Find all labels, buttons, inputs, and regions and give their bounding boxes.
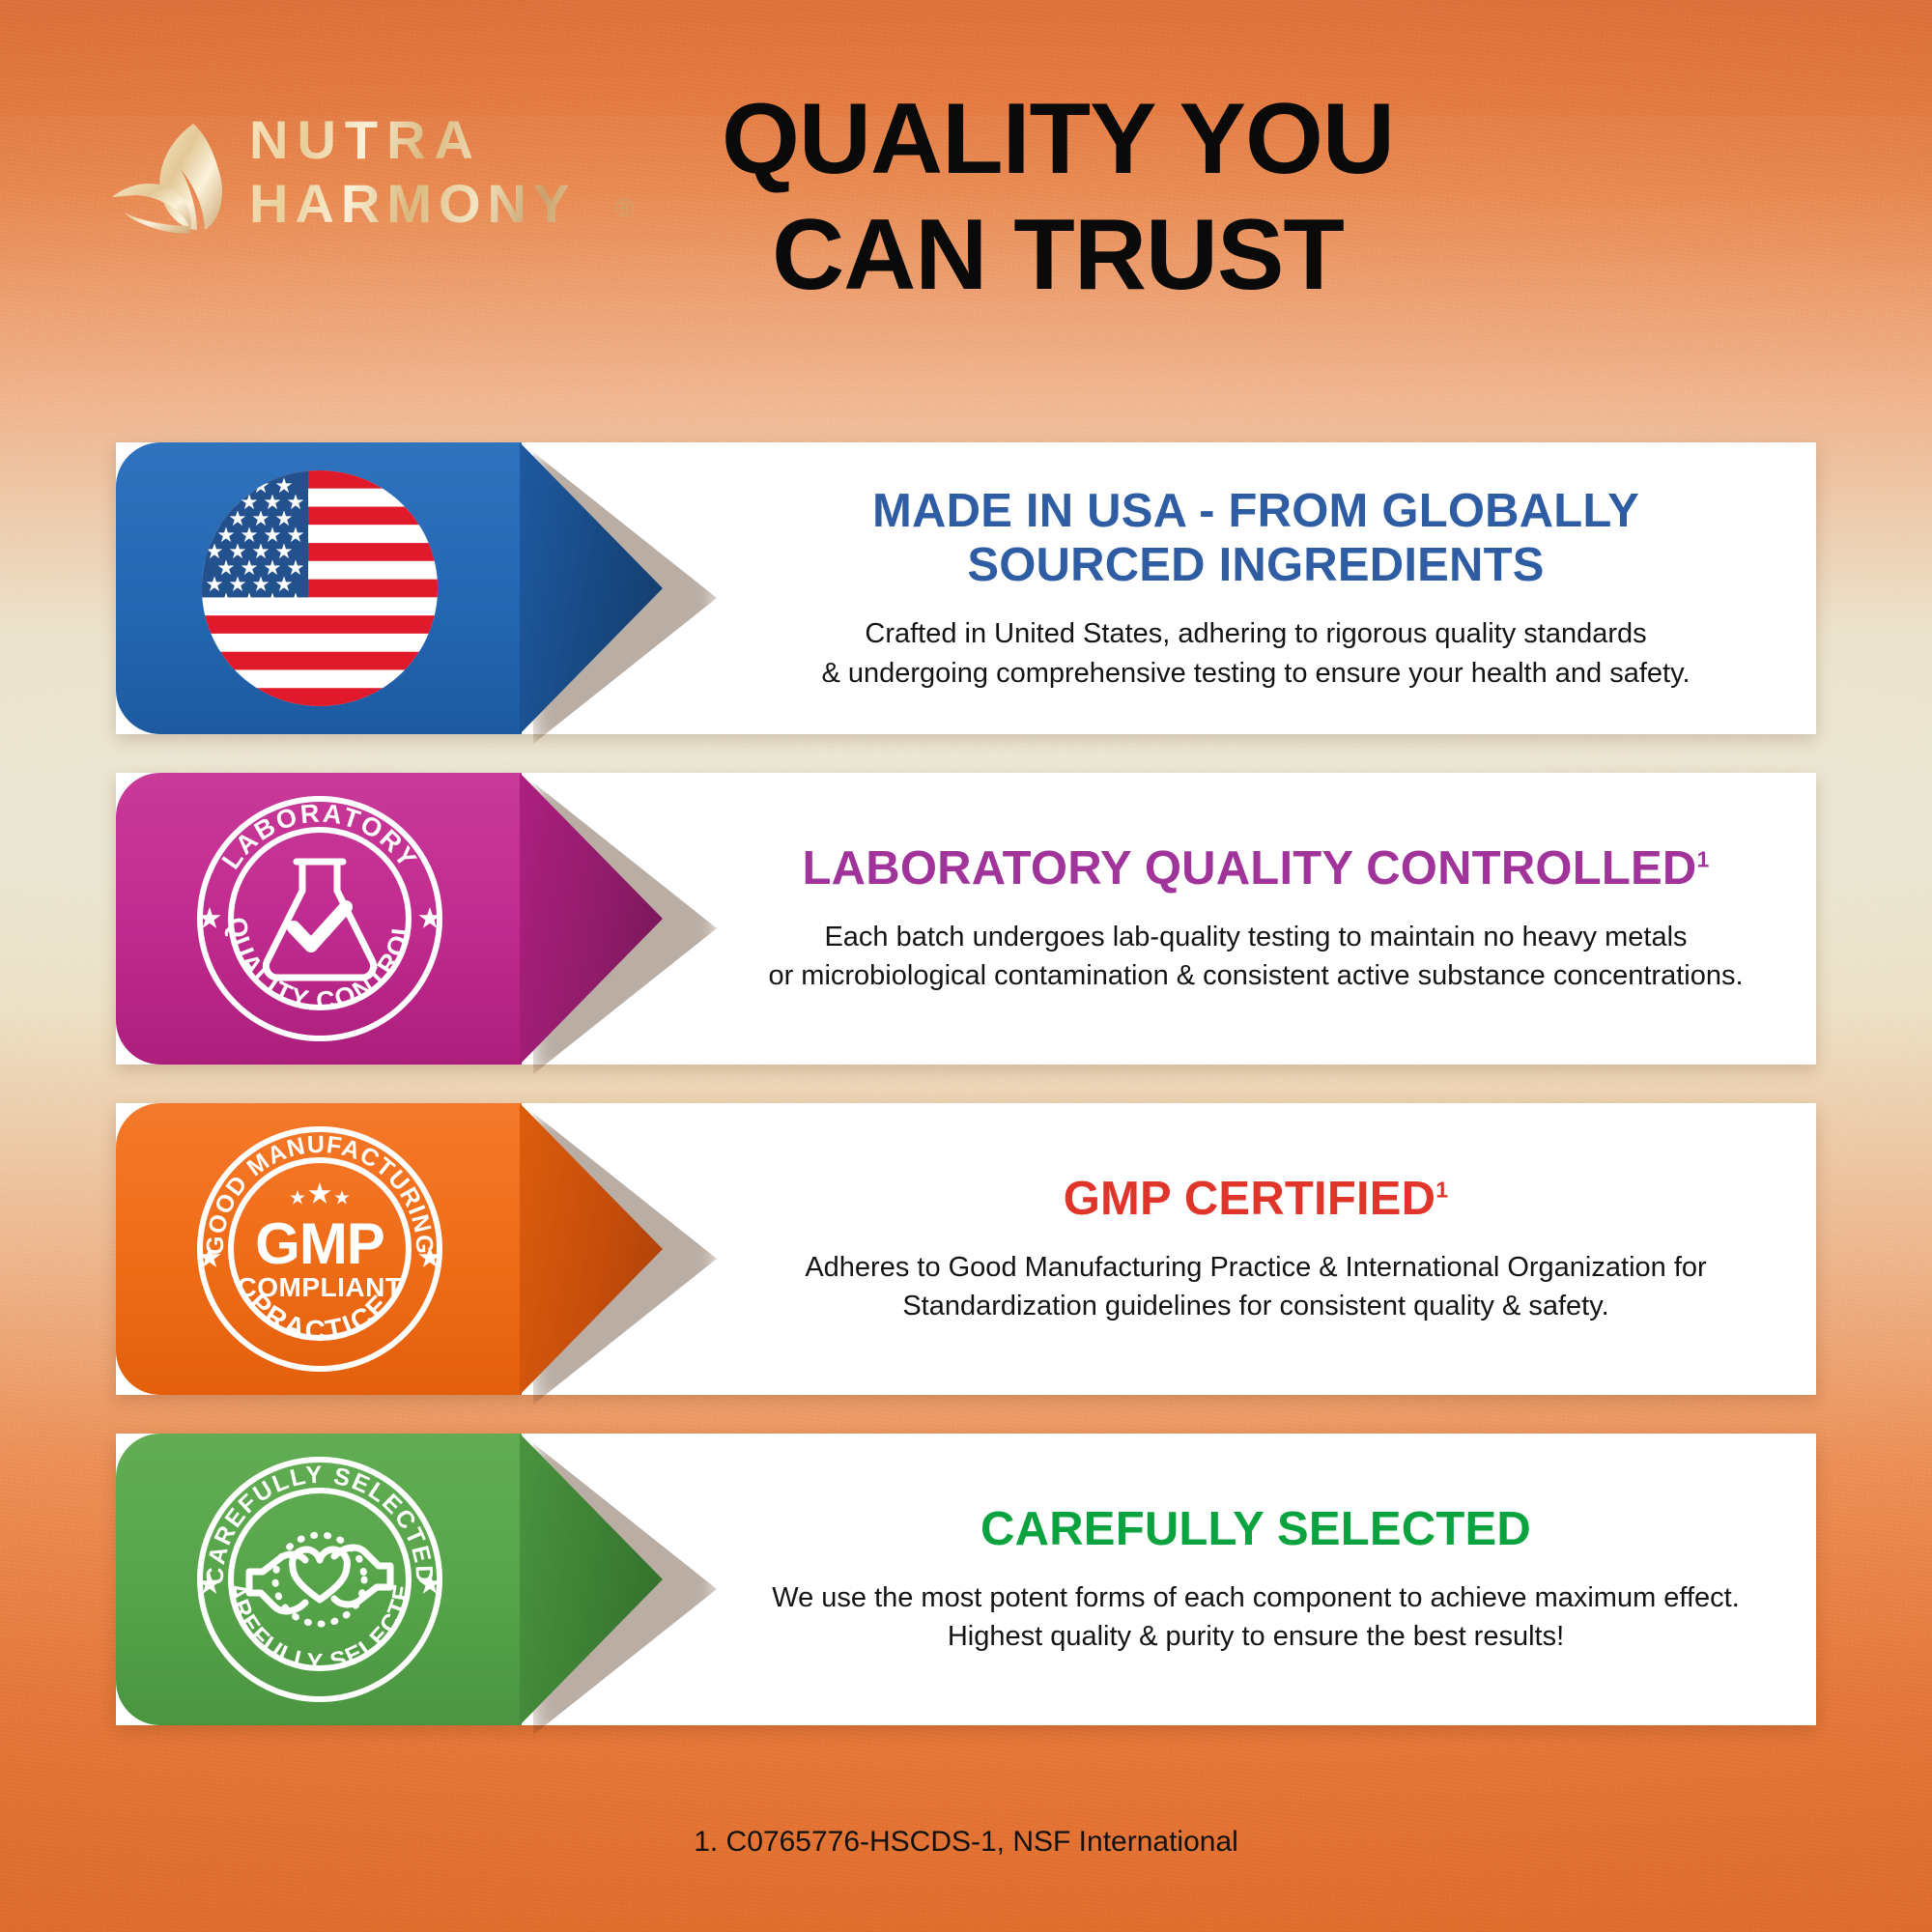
svg-text:GMP: GMP [255,1211,384,1276]
feature-card-gmp-certified[interactable]: GOOD MANUFACTURING PRACTICE GMP COMPLIAN… [116,1103,1816,1395]
card-text: CAREFULLY SELECTED We use the most poten… [715,1434,1797,1725]
card-body-line-1: Crafted in United States, adhering to ri… [865,618,1646,649]
svg-text:CAREFULLY SELECTED: CAREFULLY SELECTED [202,1462,439,1585]
feature-card-carefully-selected[interactable]: CAREFULLY SELECTED CAREFULLY SELECTED [116,1434,1816,1725]
card-body: We use the most potent forms of each com… [772,1578,1740,1657]
card-heading-line-1: MADE IN USA - FROM GLOBALLY [872,485,1639,537]
card-heading: LABORATORY QUALITY CONTROLLED1 [803,841,1710,896]
card-heading: GMP CERTIFIED1 [1064,1172,1449,1227]
card-text: MADE IN USA - FROM GLOBALLY SOURCED INGR… [715,442,1797,734]
hands-heart-badge-icon: CAREFULLY SELECTED CAREFULLY SELECTED [193,1453,446,1706]
feature-card-laboratory-quality-controlled[interactable]: LABORATORY QUALITY CONTROL LABORA [116,773,1816,1065]
card-body-line-2: Standardization guidelines for consisten… [805,1287,1706,1326]
card-body-line-2: or microbiological contamination & consi… [768,956,1743,996]
card-body-line-1: We use the most potent forms of each com… [772,1582,1740,1613]
card-color-tag: GOOD MANUFACTURING PRACTICE GMP COMPLIAN… [116,1103,657,1395]
footnote: 1. C0765776-HSCDS-1, NSF International [0,1826,1932,1859]
card-body-line-2: Highest quality & purity to ensure the b… [772,1617,1740,1657]
card-color-tag: LABORATORY QUALITY CONTROL [116,773,657,1065]
svg-text:COMPLIANT: COMPLIANT [238,1272,403,1302]
laboratory-flask-check-badge-icon: LABORATORY QUALITY CONTROL [193,792,446,1045]
card-body: Each batch undergoes lab-quality testing… [768,918,1743,996]
card-heading-line-2: SOURCED INGREDIENTS [967,539,1544,591]
card-heading-footnote-marker: 1 [1435,1178,1448,1203]
card-heading-line-1: CAREFULLY SELECTED [980,1503,1531,1555]
usa-flag-circle-icon [193,462,446,715]
card-heading-line-1: GMP CERTIFIED [1064,1173,1436,1225]
card-heading: MADE IN USA - FROM GLOBALLY SOURCED INGR… [872,484,1639,594]
card-body-line-1: Adheres to Good Manufacturing Practice &… [805,1252,1706,1283]
card-body-line-2: & undergoing comprehensive testing to en… [821,654,1690,694]
card-body: Adheres to Good Manufacturing Practice &… [805,1248,1706,1326]
card-text: LABORATORY QUALITY CONTROLLED1 Each batc… [715,773,1797,1065]
card-heading: CAREFULLY SELECTED [980,1502,1531,1557]
feature-card-made-in-usa[interactable]: MADE IN USA - FROM GLOBALLY SOURCED INGR… [116,442,1816,734]
card-body: Crafted in United States, adhering to ri… [821,614,1690,693]
gmp-compliant-badge-icon: GOOD MANUFACTURING PRACTICE GMP COMPLIAN… [193,1122,446,1376]
card-text: GMP CERTIFIED1 Adheres to Good Manufactu… [715,1103,1797,1395]
feature-card-list: MADE IN USA - FROM GLOBALLY SOURCED INGR… [0,0,1932,1932]
card-body-line-1: Each batch undergoes lab-quality testing… [824,922,1687,952]
card-color-tag [116,442,657,734]
card-heading-footnote-marker: 1 [1696,847,1709,872]
card-heading-line-1: LABORATORY QUALITY CONTROLLED [803,842,1697,895]
card-color-tag: CAREFULLY SELECTED CAREFULLY SELECTED [116,1434,657,1725]
